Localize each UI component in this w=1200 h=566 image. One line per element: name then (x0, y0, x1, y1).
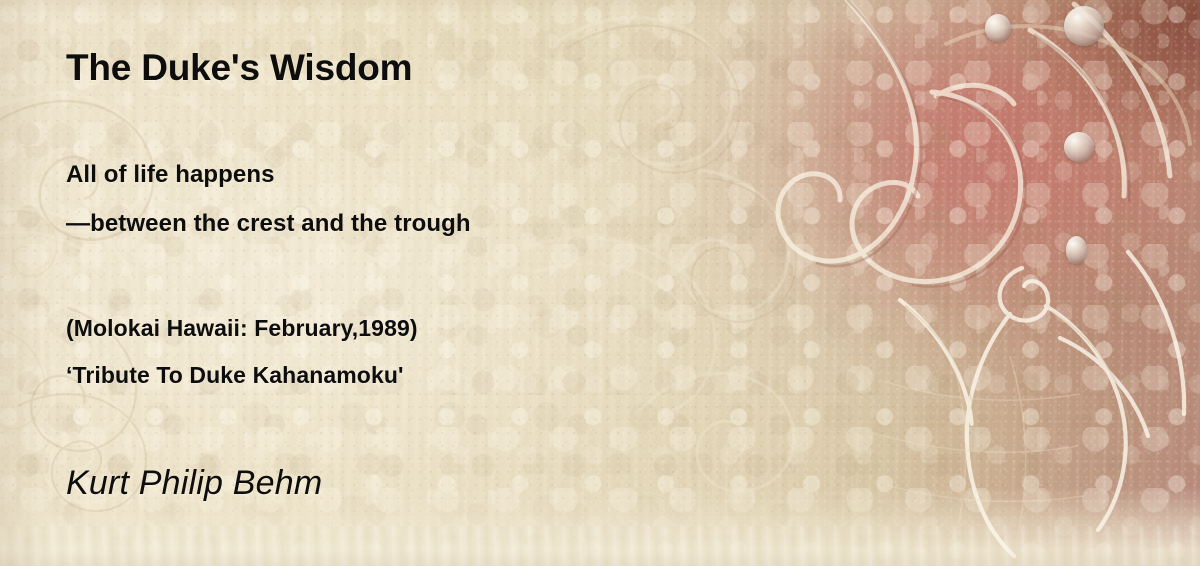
poem-line-2: —between the crest and the trough (66, 212, 471, 236)
pearl-bead-icon (1064, 6, 1104, 46)
poem-line-1: All of life happens (66, 163, 275, 187)
pearl-bead-icon (1066, 236, 1087, 264)
pearl-bead-icon (985, 14, 1011, 42)
poem-author: Kurt Philip Behm (66, 466, 322, 500)
poem-card: The Duke's Wisdom All of life happens —b… (0, 0, 1200, 566)
poem-title: The Duke's Wisdom (66, 49, 412, 86)
poem-note-location: (Molokai Hawaii: February,1989) (66, 317, 418, 340)
pearl-bead-icon (1064, 132, 1094, 162)
poem-note-tribute: ‘Tribute To Duke Kahanamoku' (66, 364, 404, 387)
poem-content: The Duke's Wisdom All of life happens —b… (66, 0, 826, 566)
